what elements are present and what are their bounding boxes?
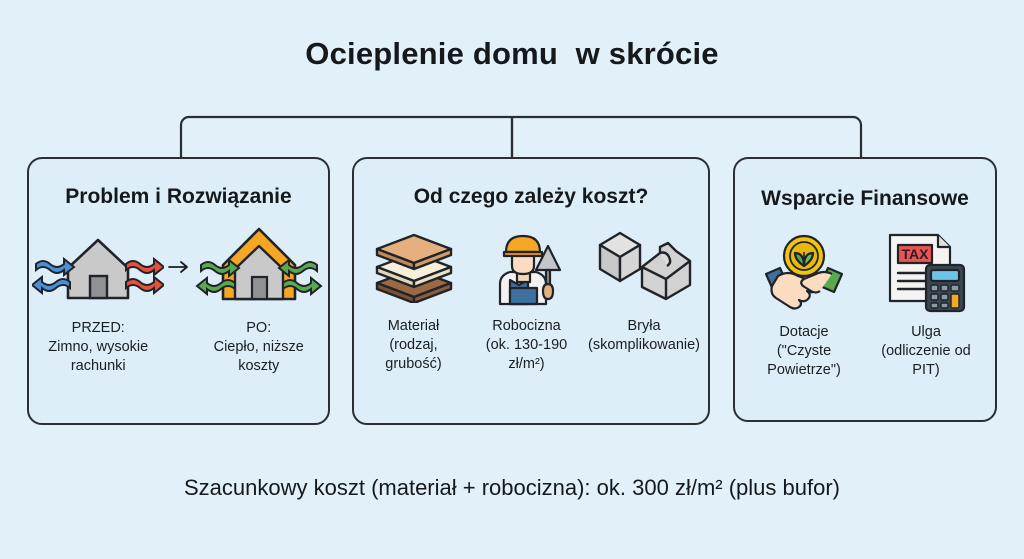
item-subsidy-label: Dotacje ("Czyste Powietrze") bbox=[767, 323, 841, 380]
card-support-items: Dotacje ("Czyste Powietrze") TAX bbox=[735, 223, 995, 380]
handshake-coin-icon bbox=[758, 223, 850, 319]
item-shape: Bryła (skomplikowanie) bbox=[583, 217, 705, 355]
item-material-label: Materiał (rodzaj, grubość) bbox=[385, 317, 441, 374]
card-cost-factors: Od czego zależy koszt? bbox=[352, 157, 710, 425]
arrow-right-icon bbox=[168, 219, 190, 315]
card-problem-items: PRZED: Zimno, wysokie rachunki bbox=[29, 219, 328, 376]
card-problem-solution: Problem i Rozwiązanie bbox=[27, 157, 330, 425]
item-tax-relief-label: Ulga (odliczenie od PIT) bbox=[881, 323, 970, 380]
item-before-label: PRZED: Zimno, wysokie rachunki bbox=[48, 319, 148, 376]
card-cost-title: Od czego zależy koszt? bbox=[354, 185, 708, 209]
item-after-label: PO: Ciepło, niższe koszty bbox=[214, 319, 304, 376]
item-labour: Robocizna (ok. 130-190 zł/m²) bbox=[470, 217, 583, 374]
page-title: Ocieplenie domu w skrócie bbox=[0, 36, 1024, 72]
connector-right-drop bbox=[853, 117, 861, 157]
tax-document-calculator-icon: TAX bbox=[882, 223, 970, 319]
item-labour-label: Robocizna (ok. 130-190 zł/m²) bbox=[486, 317, 567, 374]
building-shape-icon bbox=[594, 217, 694, 313]
svg-text:TAX: TAX bbox=[902, 246, 930, 262]
card-support-title: Wsparcie Finansowe bbox=[735, 187, 995, 211]
infographic-page: Ocieplenie domu w skrócie Problem i Rozw… bbox=[0, 0, 1024, 559]
item-before: PRZED: Zimno, wysokie rachunki bbox=[29, 219, 168, 376]
item-subsidy: Dotacje ("Czyste Powietrze") bbox=[745, 223, 863, 380]
card-problem-title: Problem i Rozwiązanie bbox=[29, 185, 328, 209]
card-financial-support: Wsparcie Finansowe bbox=[733, 157, 997, 422]
card-cost-items: Materiał (rodzaj, grubość) bbox=[354, 217, 708, 374]
material-layers-icon bbox=[371, 217, 457, 313]
item-after: PO: Ciepło, niższe koszty bbox=[190, 219, 329, 376]
connector-bracket bbox=[0, 80, 1024, 162]
item-material: Materiał (rodzaj, grubość) bbox=[357, 217, 470, 374]
connector-left-drop bbox=[181, 117, 189, 157]
worker-trowel-icon bbox=[484, 217, 570, 313]
house-uninsulated-icon bbox=[32, 219, 164, 315]
footer-summary: Szacunkowy koszt (materiał + robocizna):… bbox=[0, 475, 1024, 501]
item-tax-relief: TAX bbox=[867, 223, 985, 380]
house-insulated-icon bbox=[193, 219, 325, 315]
item-shape-label: Bryła (skomplikowanie) bbox=[588, 317, 700, 355]
